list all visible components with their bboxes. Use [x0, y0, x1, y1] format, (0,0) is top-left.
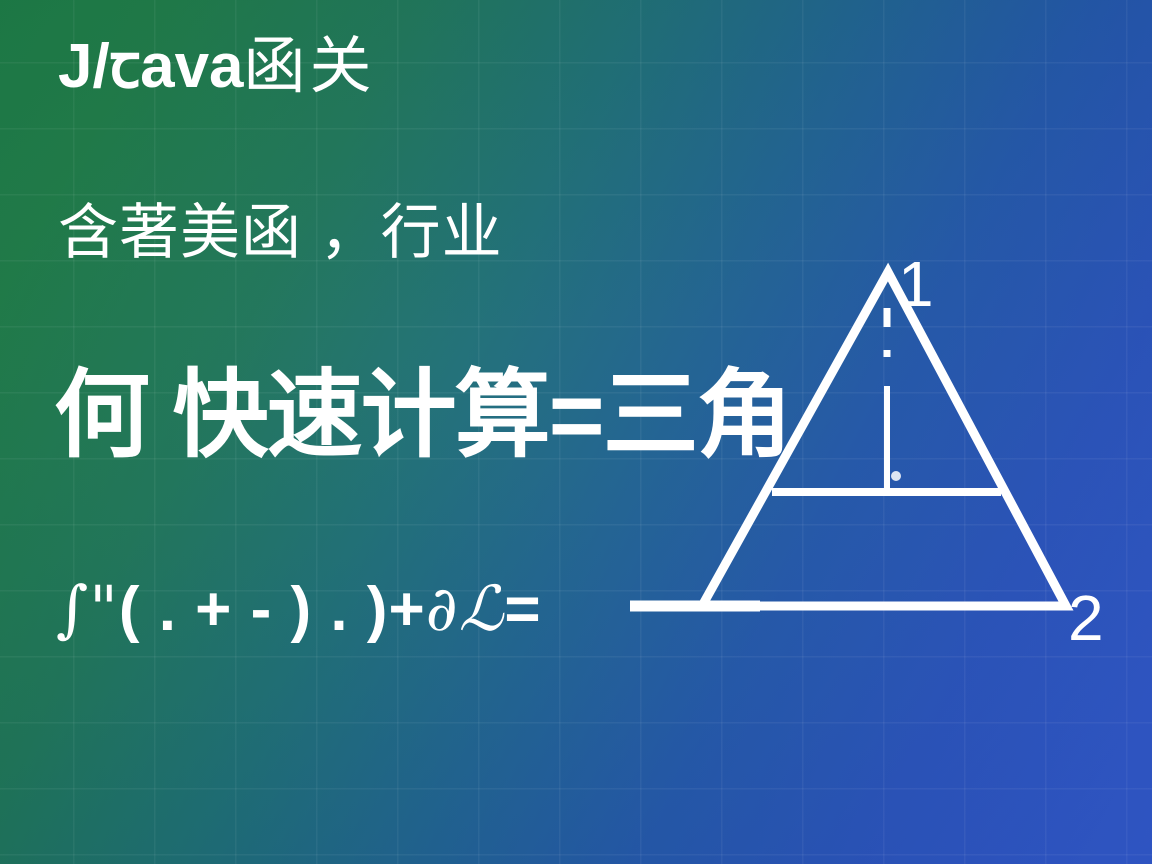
triangle-height-marker: [891, 471, 901, 481]
title-cjk-text: 函关: [244, 32, 376, 101]
slide-headline: 何 快速计算=三角: [54, 368, 791, 464]
slide-title: J/ꞇava函关: [58, 36, 376, 98]
slide-canvas: J/ꞇava函关 含著美函 ，行业 何 快速计算=三角 ∫"( . + - ) …: [0, 0, 1152, 864]
slide-subtitle: 含著美函 ，行业: [58, 203, 503, 263]
plus-operator: +: [388, 575, 425, 644]
title-latin-text: J/ꞇava: [58, 32, 244, 101]
integral-symbol: ∫": [56, 572, 119, 645]
formula-expression: ∫"( . + - ) . )+∂ℒ=: [56, 578, 542, 641]
diagram-label-apex: 1: [898, 252, 934, 316]
partial-lagrangian-symbol: ∂ℒ: [426, 572, 505, 645]
formula-group: ( . + - ) . ): [119, 575, 389, 644]
equals-operator: =: [504, 575, 541, 644]
diagram-label-base-right: 2: [1068, 586, 1104, 650]
